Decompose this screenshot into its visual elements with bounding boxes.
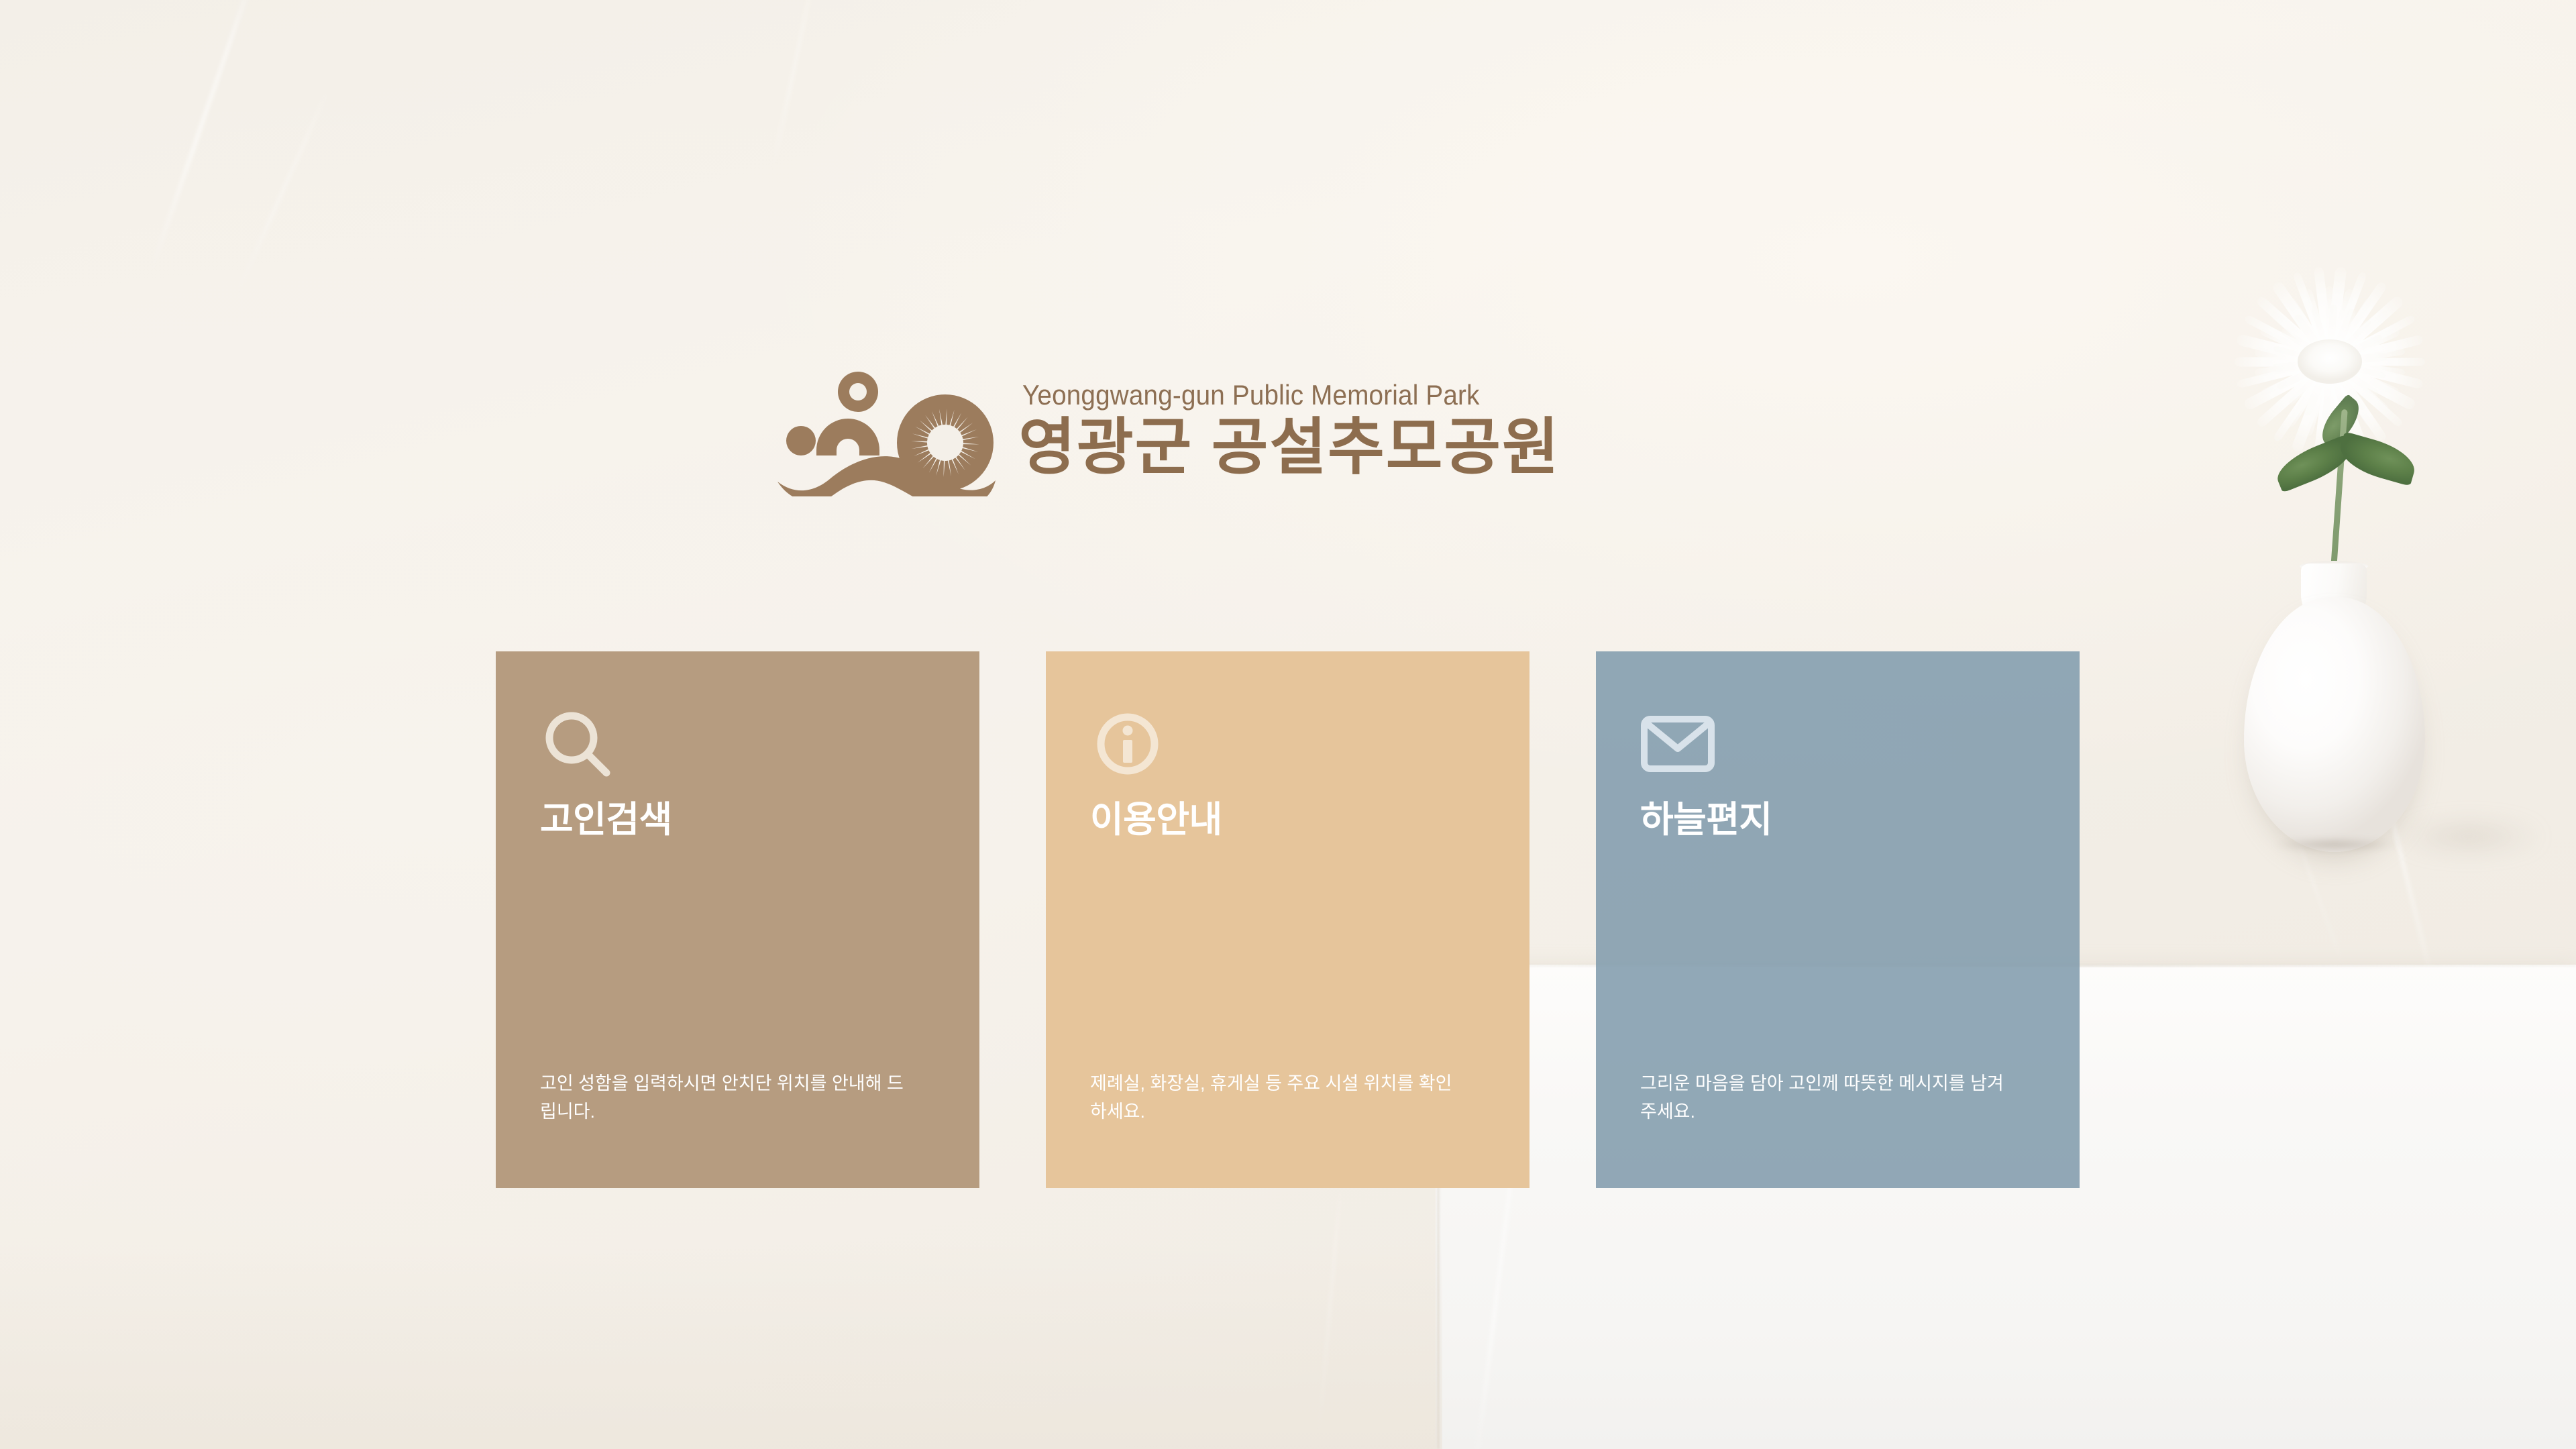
- card-spacer: [1090, 840, 1485, 1070]
- card-description: 그리운 마음을 담아 고인께 따뜻한 메시지를 남겨주세요.: [1640, 1070, 2016, 1148]
- card-title: 고인검색: [540, 800, 935, 840]
- floor-gradient: [0, 1241, 1442, 1449]
- vase-body: [2244, 597, 2425, 852]
- card-spacer: [540, 840, 935, 1070]
- mail-envelope-icon: [1640, 704, 2035, 784]
- card-title: 하늘편지: [1640, 800, 2035, 840]
- logo-lockup: Yeonggwang-gun Public Memorial Park 영광군 …: [774, 362, 1560, 496]
- card-title: 이용안내: [1090, 800, 1485, 840]
- site-header: Yeonggwang-gun Public Memorial Park 영광군 …: [0, 362, 2576, 496]
- card-usage-guide[interactable]: 이용안내 제례실, 화장실, 휴게실 등 주요 시설 위치를 확인하세요.: [1046, 651, 1529, 1188]
- info-circle-icon: [1090, 704, 1485, 784]
- card-description: 제례실, 화장실, 휴게실 등 주요 시설 위치를 확인하세요.: [1090, 1070, 1466, 1148]
- logo-english-name: Yeonggwang-gun Public Memorial Park: [1022, 379, 1517, 411]
- vase-base-shadow: [2247, 837, 2423, 855]
- logo-korean-name: 영광군 공설추모공원: [1018, 417, 1560, 480]
- menu-card-grid: 고인검색 고인 성함을 입력하시면 안치단 위치를 안내해 드립니다. 이용안내…: [496, 651, 2080, 1188]
- card-description: 고인 성함을 입력하시면 안치단 위치를 안내해 드립니다.: [540, 1070, 916, 1148]
- card-spacer: [1640, 840, 2035, 1070]
- card-deceased-search[interactable]: 고인검색 고인 성함을 입력하시면 안치단 위치를 안내해 드립니다.: [496, 651, 979, 1188]
- vase-cast-shadow: [2408, 813, 2576, 860]
- memorial-park-sun-wave-logo-icon: [774, 362, 996, 496]
- card-sky-letter[interactable]: 하늘편지 그리운 마음을 담아 고인께 따뜻한 메시지를 남겨주세요.: [1596, 651, 2080, 1188]
- search-icon: [540, 704, 935, 784]
- logo-wordmark: Yeonggwang-gun Public Memorial Park 영광군 …: [1018, 379, 1560, 480]
- kiosk-home-screen: Yeonggwang-gun Public Memorial Park 영광군 …: [0, 0, 2576, 1449]
